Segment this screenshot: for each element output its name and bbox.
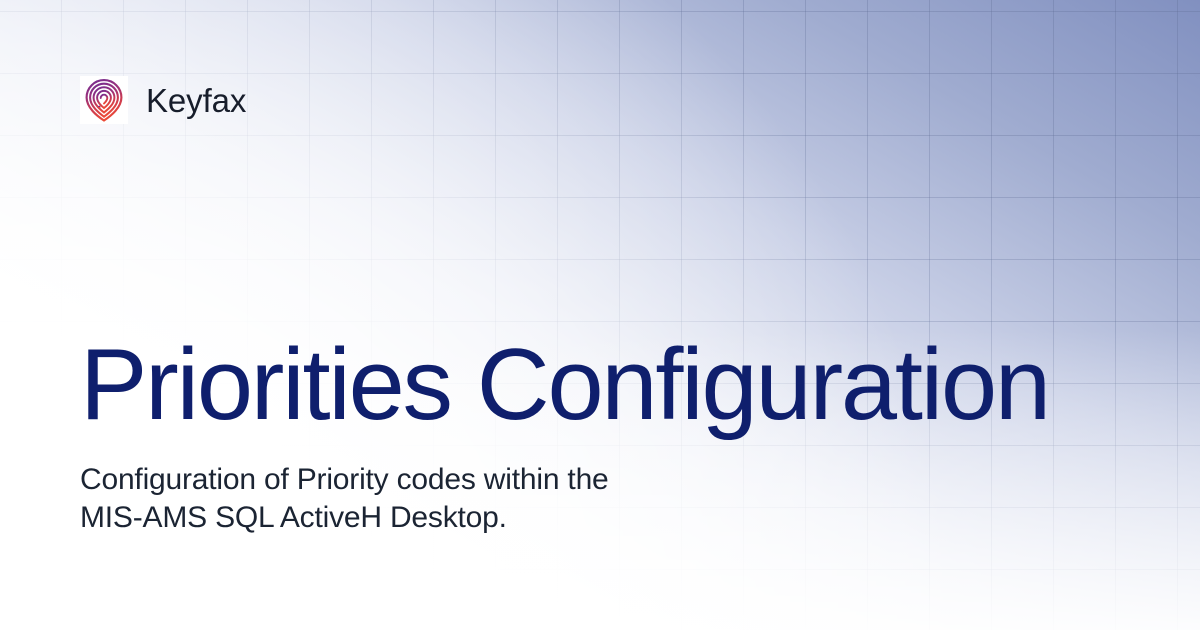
- page-subtitle-line-2: MIS-AMS SQL ActiveH Desktop.: [80, 499, 840, 537]
- og-card: Keyfax Priorities Configuration Configur…: [0, 0, 1200, 630]
- page-subtitle-line-1: Configuration of Priority codes within t…: [80, 461, 840, 499]
- page-subtitle: Configuration of Priority codes within t…: [80, 437, 840, 537]
- hero-text-block: Priorities Configuration Configuration o…: [80, 334, 1140, 537]
- brand: Keyfax: [80, 76, 246, 124]
- brand-name: Keyfax: [146, 84, 246, 117]
- fingerprint-icon: [80, 76, 128, 124]
- page-title: Priorities Configuration: [80, 334, 1140, 437]
